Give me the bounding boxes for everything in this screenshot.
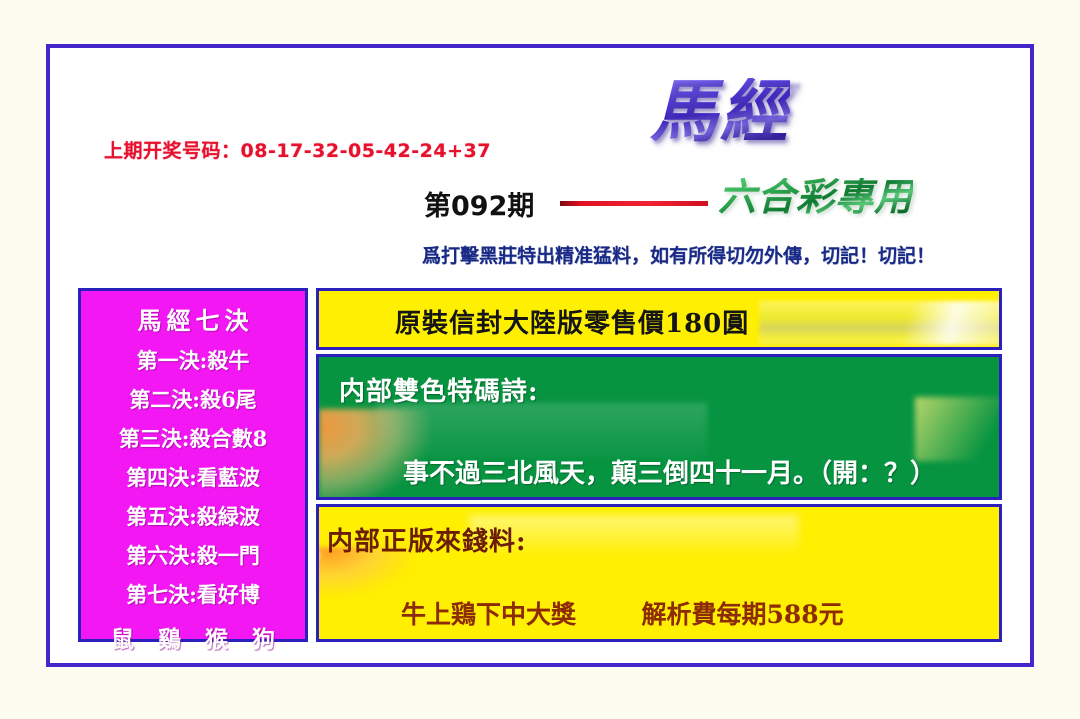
- retail-price-panel: 原裝信封大陸版零售價180圓: [316, 288, 1002, 350]
- money-material-line: 牛上鶏下中大獎 解析費每期588元: [401, 595, 844, 631]
- seven-decisions-title: 馬經七決: [81, 301, 305, 336]
- decision-item-6: 第六決:殺一門: [81, 540, 305, 570]
- decision-item-4: 第四決:看藍波: [81, 462, 305, 492]
- censored-smudge-price: [759, 301, 1002, 345]
- logo-subtitle-mark-six: 六合彩專用: [718, 178, 913, 216]
- money-tip-text: 牛上鶏下中大獎: [401, 600, 576, 629]
- red-divider-line: [560, 201, 708, 206]
- retail-price-text: 原裝信封大陸版零售價180圓: [395, 303, 749, 340]
- seven-decisions-panel: 馬經七決 第一決:殺牛 第二決:殺6尾 第三決:殺合數8 第四決:看藍波 第五決…: [78, 288, 308, 642]
- right-panel-column: 原裝信封大陸版零售價180圓 内部雙色特碼詩: 事不過三北風天，顛三倒四十一月。…: [316, 288, 1002, 642]
- decision-item-7: 第七決:看好博: [81, 579, 305, 609]
- logo-title-majing: 馬經: [650, 78, 790, 146]
- decision-item-3: 第三決:殺合數8: [81, 423, 305, 453]
- analysis-fee-text: 解析費每期588元: [641, 600, 843, 629]
- decision-item-1: 第一決:殺牛: [81, 345, 305, 375]
- notice-text: 爲打擊黑莊特出精准猛料，如有所得切勿外傳，切記！切記！: [422, 241, 935, 268]
- money-material-panel: 内部正版來錢料: 牛上鶏下中大獎 解析費每期588元: [316, 504, 1002, 642]
- issue-number: 第092期: [424, 184, 534, 223]
- money-material-label: 内部正版來錢料:: [327, 521, 527, 558]
- haze-overlay-green-right: [915, 397, 1002, 461]
- poem-text: 事不過三北風天，顛三倒四十一月。（開：？）: [403, 453, 936, 490]
- special-code-poem-panel: 内部雙色特碼詩: 事不過三北風天，顛三倒四十一月。（開：？）: [316, 354, 1002, 500]
- poem-label: 内部雙色特碼詩:: [339, 371, 539, 408]
- decision-item-2: 第二決:殺6尾: [81, 384, 305, 414]
- previous-draw-numbers: 上期开奖号码：08-17-32-05-42-24+37: [104, 136, 491, 163]
- decision-item-5: 第五決:殺緑波: [81, 501, 305, 531]
- zodiac-picks: 鼠 鷄 猴 狗: [81, 620, 305, 654]
